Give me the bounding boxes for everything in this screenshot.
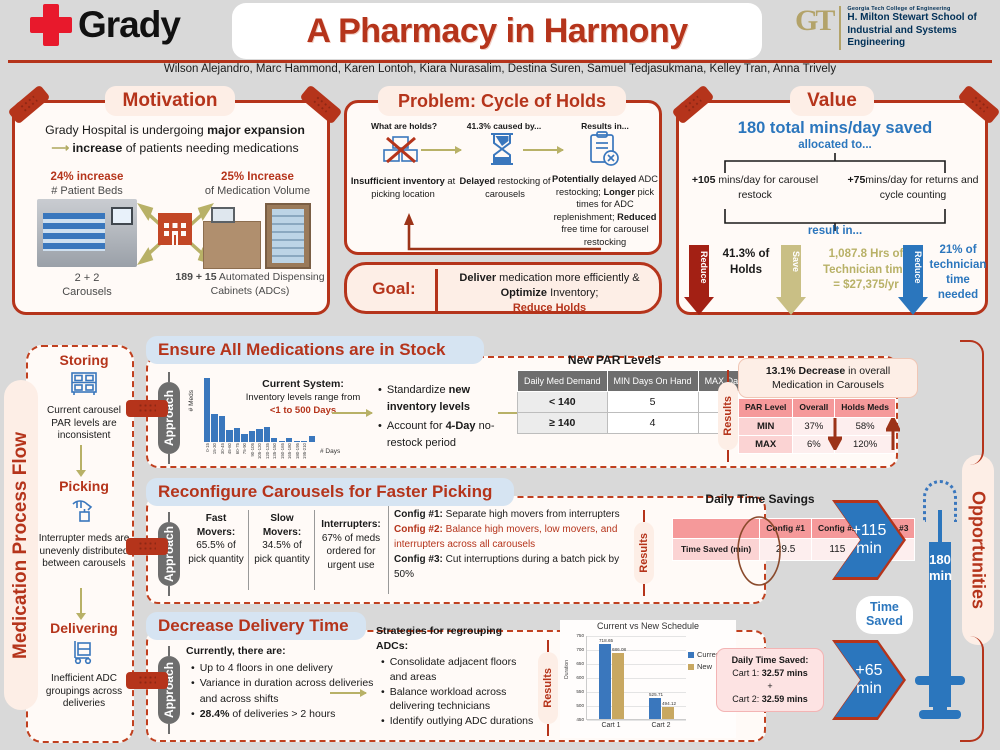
slow-movers-block: Slow Movers:34.5% of pick quantity [252,512,312,566]
hourglass-icon [485,131,519,167]
section1-bullet-2: • Account for 4-Day no-restock period [378,418,508,451]
section1-result-callout: 13.1% Decrease in overall Medication in … [738,358,918,398]
arrow-115-body: +115 min [835,503,903,577]
patient-beds-value: 24% increase [27,171,147,183]
histogram-bar [301,441,307,442]
section2-results-label: Results [638,533,650,573]
poster-header: Grady A Pharmacy in Harmony GT Georgia T… [0,0,1000,62]
save-time-arrow-icon: Save [781,245,801,315]
bandaid-decoration-5 [126,400,168,417]
decrease-value: 13.1% Decrease [766,365,845,377]
res-r1c0: MAX [739,435,793,453]
value-right-bold: +75 [847,174,865,186]
table-row: MIN 37% 58% [739,417,896,435]
hand-truck-icon [69,638,99,664]
time-savings-arrow-115: +115 min [832,500,906,580]
histogram-bar [204,378,210,442]
poster-title-text: A Pharmacy in Harmony [306,12,687,51]
interrupters-block: Interrupters:67% of meds ordered for urg… [318,518,384,572]
strategies-head: Strategies for regrouping ADCs: [376,625,502,652]
section1-approach-label: Approach [162,390,176,446]
problem-col3-bold2: Longer [603,187,635,197]
bar-value-label: 494.12 [662,701,675,706]
flow-step-picking: Picking Interrupter meds are unevenly di… [38,478,130,571]
histogram-xtick: 105-120 [257,443,262,459]
bullet2-plain: Account for [387,420,446,432]
carousel-machine-image [37,199,137,267]
strategy-1-text: Consolidate adjacent floors and areas [390,655,536,684]
value-subhead: allocated to... [679,139,991,151]
motivation-line2-plain: of patients needing medications [122,141,298,155]
reduce-tech-arrow-label: Reduce [903,251,923,284]
config2-highlight-ellipse-icon [736,515,782,587]
slow-movers-head: Slow Movers: [263,513,301,538]
patient-beds-stat: 24% increase # Patient Beds [27,171,147,197]
flow-step-delivering-title: Delivering [38,620,130,636]
config-2: Config #2: Balance high movers, low move… [394,522,630,552]
saved-cart2-value: 32.59 mins [762,694,808,704]
gt-monogram-icon: GT [795,6,832,36]
strategy-1: •Consolidate adjacent floors and areas [376,655,536,684]
histogram-bar [211,414,217,442]
tech-hours-l1: 1,087.8 Hrs of [829,248,904,260]
strategy-3: •Identify outlying ADC durations [376,714,536,729]
arrow-65-line2: min [856,680,882,698]
adc-cabinet-image [203,203,311,269]
section1-arrow-1-icon [332,412,372,414]
bar-value-label: 686.08 [612,647,625,652]
section3-results-pill: Results [538,652,558,724]
current-vs-new-chart: Current vs New Schedule Duration 718.656… [560,620,736,738]
bandaid-decoration-7 [126,672,168,689]
value-headline: 180 total mins/day saved [679,119,991,138]
bar-chart-bar [612,653,624,719]
current-system-l1: Inventory levels range from [228,392,378,403]
flow-step-delivering: Delivering Inefficient ADC groupings acr… [38,620,130,711]
grady-logo: Grady [30,4,180,46]
bar-chart-ytick: 750 [576,633,584,638]
value-panel: 180 total mins/day saved allocated to...… [676,100,988,315]
value-holds-text: 41.3% of Holds [715,247,777,278]
bar-chart-ytick: 600 [576,675,584,680]
current-bullet-3-text: of deliveries > 2 hours [229,708,335,720]
current-bullet-1-text: Up to 4 floors in one delivery [200,661,333,676]
strategies-block: Strategies for regrouping ADCs: •Consoli… [376,624,536,729]
medication-volume-value: 25% Increase [190,171,325,183]
histogram-bar [279,441,285,442]
arrow-65-line1: +65 [855,662,882,680]
flow-step-picking-text: Interrupter meds are unevenly distribute… [38,533,130,571]
bar-chart-ytick: 700 [576,647,584,652]
histogram-bar [241,434,247,442]
histogram-xtick: 180-195 [295,443,300,459]
flow-step-storing: Storing Current carousel PAR levels are … [38,352,130,443]
bar-chart-bar [649,698,661,719]
section1-bullet-1: • Standardize new inventory levels [378,382,508,415]
time-saved-line2: Saved [866,614,903,628]
bar-chart-bar [662,707,674,719]
goal-label: Goal: [357,279,431,299]
histogram-xtick: 165-180 [287,443,292,459]
time-saved-line1: Time [870,600,899,614]
par-r0c1: 5 [607,392,698,413]
value-title: Value [790,86,874,116]
shelf-icon [69,370,99,396]
value-right-allocation: +75mins/day for returns and cycle counti… [839,173,987,202]
configs-list: Config #1: Separate high movers from int… [394,507,630,582]
histogram-bar [249,431,255,442]
flow-step-picking-title: Picking [38,478,130,494]
fast-movers-block: Fast Movers:65.5% of pick quantity [186,512,246,566]
table-row: MAX 6% 120% [739,435,896,453]
motivation-line-2: ⟶ increase of patients needing medicatio… [29,141,321,155]
bar-chart-xtick: Cart 2 [636,722,686,729]
reduce-technician-arrow-icon: Reduce [903,245,923,315]
histogram-xtick: 75-90 [242,443,247,454]
par-table-title: New PAR Levels [517,353,712,367]
motivation-title: Motivation [105,86,235,116]
time-savings-arrow-65: +65 min [832,640,906,720]
histogram-xtick: 195-210 [302,443,307,459]
histogram-xlabel: # Days [320,448,340,455]
res-r0c0: MIN [739,417,793,435]
goal-bold1: Deliver [459,272,496,284]
histogram-bar [271,438,277,442]
bullet-dot-icon-4: • [191,676,195,706]
goal-panel: Goal: Deliver medication more efficientl… [344,262,662,314]
value-result-in: result in... [679,225,991,237]
saved-cart2-label: Cart 2: [732,694,762,704]
config-3: Config #3: Cut interruptions during a ba… [394,552,630,582]
author-list: Wilson Alejandro, Marc Hammond, Karen Lo… [0,63,1000,75]
section2-results-pill: Results [634,522,654,584]
histogram-bar [256,429,262,442]
bullet-dot-icon-2: • [378,418,382,451]
insufficient-inventory-icon [379,133,425,167]
opportunities-bracket-top [960,340,984,465]
goal-text: Deliver medication more efficiently & Op… [442,271,657,316]
interrupters-body: 67% of meds ordered for urgent use [322,533,380,571]
res-table-header-row: PAR Level Overall Holds Meds [739,399,896,418]
histogram-xtick: 0-15 [205,443,210,452]
goal-bold2: Optimize [501,287,547,299]
current-bullet-1: •Up to 4 floors in one delivery [186,661,376,676]
flow-label-text: Medication Process Flow [10,432,32,659]
value-left-bold: +105 [692,174,716,186]
motivation-line2-bold: increase [72,141,122,155]
bar-value-label: 718.65 [599,638,612,643]
olive-arrow-icon: ⟶ [51,141,69,155]
saved-head: Daily Time Saved: [732,655,809,665]
legend-swatch [688,664,694,670]
adc-count: 189 + 15 [175,271,216,283]
histogram-xtick: 120-135 [265,443,270,459]
flow-step-delivering-text: Inefficient ADC groupings across deliver… [38,673,130,711]
bullet-dot-icon-3: • [191,661,195,676]
problem-col1-bold: Insufficient inventory [351,176,445,186]
tech-hours-l3: = $27,375/yr [833,279,899,291]
legend-swatch [688,652,694,658]
problem-col2-body: Delayed restocking of carousels [457,175,553,200]
up-trend-arrow-icon [886,418,900,450]
bar-chart-ytick: 650 [576,661,584,666]
carousel-caption-text: Carousels [62,286,112,298]
goal-divider [435,269,438,313]
res-header-1: Overall [793,399,835,418]
bullet-dot-icon: • [378,382,382,415]
histogram-xtick: 135-150 [272,443,277,459]
problem-col1-head: What are holds? [353,121,455,131]
opportunities-label: Opportunities [962,455,994,645]
histogram-bar [264,427,270,442]
slow-movers-body: 34.5% of pick quantity [254,540,310,565]
current-bullet-3-bold: 28.4% [200,708,230,720]
histogram-bar [234,428,240,442]
value-technician-percent: 21% of technician time needed [927,243,989,303]
par-header-0: Daily Med Demand [518,371,608,392]
problem-panel: What are holds? 41.3% caused by... Resul… [344,100,662,255]
problem-title: Problem: Cycle of Holds [378,86,626,116]
histogram-xtick: 60-75 [235,443,240,454]
bar-chart-xtick: Cart 1 [586,722,636,729]
current-system-head: Current System: [228,378,378,390]
bar-chart-title: Current vs New Schedule [560,621,736,631]
config1-label: Config #1: [394,509,443,520]
histogram-xtick: 45-60 [227,443,232,454]
adc-caption-text: Automated Dispensing Cabinets (ADCs) [211,271,325,297]
histogram-bar [294,441,300,442]
par-results-table: PAR Level Overall Holds Meds MIN 37% 58%… [738,398,896,454]
strategy-2: •Balance workload across delivering tech… [376,685,536,714]
bar-value-label: 525.71 [649,692,662,697]
flow-step-storing-text: Current carousel PAR levels are inconsis… [38,405,130,443]
problem-col3-head: Results in... [555,121,655,131]
bullet-dot-icon-6: • [381,655,385,684]
legend-label: New [697,662,712,671]
delayed-clipboard-icon [587,131,621,167]
section2-divider-1 [248,510,249,590]
interrupters-head: Interrupters: [321,519,380,530]
goal-reduce-holds: Reduce Holds [513,302,586,314]
problem-col3-bold3: Reduced [617,212,656,222]
problem-col3-bold1: Potentially delayed [552,174,636,184]
section1-results-pill: Results [718,382,738,450]
syringe-value-text: 180 min [929,552,951,585]
bar-chart-bar [599,644,611,719]
value-right-text: mins/day for returns and cycle counting [865,174,978,201]
saved-cart1-label: Cart 1: [732,668,762,678]
motivation-line1-bold: major expansion [207,123,305,137]
saved-plus: + [767,681,772,691]
flow-arrow-2-icon [80,588,82,614]
patient-beds-label: # Patient Beds [27,185,147,197]
adc-caption: 189 + 15 Automated Dispensing Cabinets (… [175,271,325,298]
current-state-head: Currently, there are: [186,645,286,657]
section1-approach-pill: Approach [158,382,180,454]
bullet-dot-icon-8: • [381,714,385,729]
fast-movers-head: Fast Movers: [197,513,235,538]
histogram-xtick: 15-30 [212,443,217,454]
section2-divider-2 [314,510,315,590]
opportunities-bracket-bottom [960,636,984,742]
histogram-ylabel: # Meds [188,390,195,411]
config-1: Config #1: Separate high movers from int… [394,507,630,522]
bullet2-bold: 4-Day [446,420,476,432]
poster-canvas: Grady A Pharmacy in Harmony GT Georgia T… [0,0,1000,750]
histogram-xtick: 90-105 [250,443,255,457]
current-system-caption: Current System: Inventory levels range f… [228,378,378,416]
section2-title: Reconfigure Carousels for Faster Picking [146,478,514,506]
bar-chart-ytick: 450 [576,717,584,722]
poster-title: A Pharmacy in Harmony [232,3,762,59]
fast-movers-body: 65.5% of pick quantity [188,540,244,565]
cycle-feedback-arrow-icon [395,209,607,255]
reduce-holds-arrow-label: Reduce [689,251,709,284]
histogram-bar [219,416,225,442]
res-header-2: Holds Meds [835,399,896,418]
config1-text: Separate high movers from interrupters [443,509,620,520]
tech-hours-l2: Technician time [823,264,909,276]
goal-text1: medication more efficiently & [496,272,639,284]
problem-arrow-2-icon [523,149,563,151]
bullet1-plain: Standardize [387,384,449,396]
flow-arrow-1-icon [80,445,82,471]
bullet-dot-icon-5: • [191,707,195,722]
histogram-bar [226,430,232,442]
hand-pick-icon [69,496,99,524]
time-saved-badge: Time Saved [856,596,913,634]
gt-school-line2: Industrial and Systems Engineering [847,25,1000,50]
motivation-line-1: Grady Hospital is undergoing major expan… [29,123,321,137]
medical-cross-icon [30,4,72,46]
value-left-text: mins/day for carousel restock [715,174,818,201]
section3-arrow-icon [330,692,366,694]
config2-label: Config #2: [394,524,443,535]
carousel-count: 2 + 2 [75,272,100,284]
saved-cart1-value: 32.57 mins [762,668,808,678]
current-bullet-3: •28.4% of deliveries > 2 hours [186,707,376,722]
strategy-3-text: Identify outlying ADC durations [390,714,534,729]
par-header-1: MIN Days On Hand [607,371,698,392]
section3-results-label: Results [542,668,554,708]
current-system-l2: <1 to 500 Days [228,405,378,416]
carousel-caption: 2 + 2 Carousels [27,271,147,300]
grady-brand-text: Grady [78,4,180,46]
motivation-panel: Grady Hospital is undergoing major expan… [12,100,330,315]
daily-time-savings-title: Daily Time Savings [660,492,860,506]
par-r0c0: < 140 [518,392,608,413]
bar-chart-ytick: 550 [576,689,584,694]
section1-title: Ensure All Medications are in Stock [146,336,484,364]
strategy-2-text: Balance workload across delivering techn… [390,685,536,714]
bandaid-decoration-6 [126,538,168,555]
value-left-allocation: +105 mins/day for carousel restock [685,173,825,202]
motivation-line1-plain: Grady Hospital is undergoing [45,123,207,137]
section1-results-label: Results [722,396,734,436]
problem-col2-bold: Delayed [460,176,496,186]
histogram-bar [286,438,292,442]
problem-arrow-1-icon [421,149,461,151]
gt-school-line1: H. Milton Stewart School of [847,12,1000,25]
section3-approach-pill: Approach [158,656,180,724]
goal-text2: Inventory; [547,287,598,299]
histogram-bar [309,436,315,442]
section2-divider-3 [388,506,389,594]
save-time-arrow-label: Save [781,251,801,272]
par-r1c1: 4 [607,413,698,434]
bar-chart-ytick: 500 [576,703,584,708]
daily-time-saved-callout: Daily Time Saved: Cart 1: 32.57 mins + C… [716,648,824,712]
bullet-dot-icon-7: • [381,685,385,714]
arrow-65-body: +65 min [835,643,903,717]
histogram-xtick: 30-45 [220,443,225,454]
config3-label: Config #3: [394,554,443,565]
problem-col2-head: 41.3% caused by... [459,121,549,131]
georgia-tech-logo: GT Georgia Tech College of Engineering H… [795,6,1000,50]
histogram-xtick: 150-165 [280,443,285,459]
reduce-holds-arrow-icon: Reduce [689,245,709,315]
current-state-block: Currently, there are: •Up to 4 floors in… [186,644,376,722]
medication-process-flow-label: Medication Process Flow [4,380,38,710]
problem-col1-body: Insufficient inventory at picking locati… [349,175,457,200]
arrow-115-line2: min [856,540,882,558]
flow-step-storing-title: Storing [38,352,130,368]
section1-bullets: • Standardize new inventory levels • Acc… [378,382,508,451]
hospital-building-icon [158,213,192,245]
section3-title: Decrease Delivery Time [146,612,366,640]
arrow-115-line1: +115 [852,522,887,540]
res-header-0: PAR Level [739,399,793,418]
opportunities-label-text: Opportunities [968,491,989,609]
syringe-icon: 180 min [915,480,965,740]
down-trend-arrow-icon [828,418,842,450]
section3-approach-label: Approach [162,662,176,718]
par-r1c0: ≥ 140 [518,413,608,434]
problem-col2-text: restocking of carousels [485,176,550,199]
